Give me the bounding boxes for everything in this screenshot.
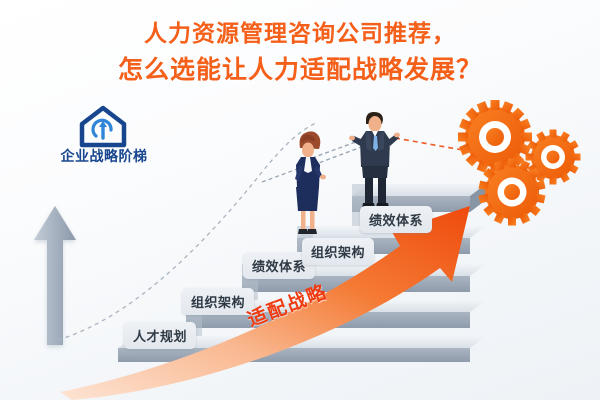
up-arrow-icon (34, 206, 76, 345)
step-label-4: 组织架构 (302, 238, 374, 265)
step-label-5: 绩效体系 (360, 206, 432, 233)
house-badge-label: 企业战略阶梯 (38, 146, 170, 166)
house-up-arrow-icon (82, 108, 124, 145)
poster-canvas: 人力资源管理咨询公司推荐， 怎么选能让人力适配战略发展？ 企业战略阶梯 人才规划… (0, 0, 600, 400)
businesswoman (295, 131, 326, 234)
step-label-1: 人才规划 (124, 322, 196, 349)
page-title-line1: 人力资源管理咨询公司推荐， (0, 14, 600, 48)
page-title-line2: 怎么选能让人力适配战略发展？ (0, 50, 600, 86)
step-label-2: 组织架构 (182, 288, 254, 315)
